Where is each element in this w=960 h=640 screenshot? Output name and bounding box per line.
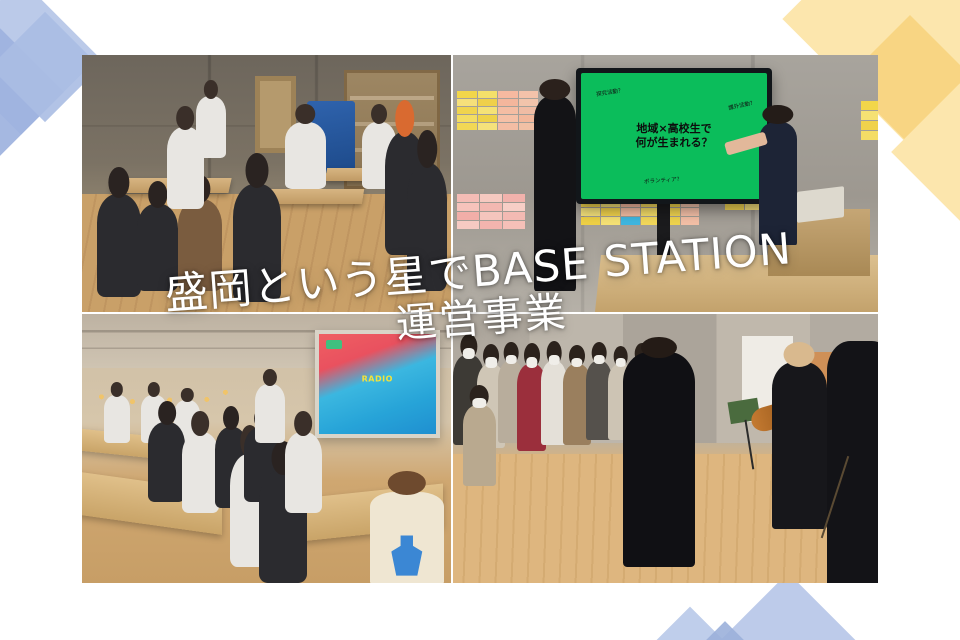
slide-canvas: 探究活動？ 課外活動？ 地域×高校生で 何が生まれる？ ボランティア？ (0, 0, 960, 640)
person (178, 199, 222, 292)
person (285, 432, 322, 513)
tv-stand (657, 204, 670, 261)
violinist (772, 362, 827, 529)
photo-workshop-concrete (82, 55, 451, 312)
sticky-note-wall (861, 101, 878, 204)
person (196, 96, 226, 158)
slide-note-bottom: ボランティア？ (644, 175, 683, 186)
photo-radio-workshop: RADIO (82, 314, 451, 583)
person-foreground-right (827, 341, 878, 583)
person (182, 432, 219, 513)
person-presenter (255, 384, 285, 443)
projection-screen: RADIO (315, 330, 440, 438)
sticky-note-wall (457, 194, 525, 276)
person (148, 422, 185, 503)
slide-title: RADIO (362, 376, 393, 385)
slide-heading-line1: 地域×高校生で (636, 122, 711, 136)
slide-note-top-right: 課外活動？ (728, 98, 757, 112)
person (285, 122, 326, 189)
person (104, 395, 130, 443)
audience-member (463, 405, 496, 486)
green-slide: 探究活動？ 課外活動？ 地域×高校生で 何が生まれる？ ボランティア？ (581, 73, 766, 199)
person (97, 194, 141, 297)
person (137, 204, 178, 291)
photo-chamber-concert (453, 314, 878, 583)
sticky-note-wall (457, 91, 538, 184)
laptop (797, 186, 844, 223)
slide-heading-line2: 何が生まれる？ (636, 136, 713, 150)
photo-student-presentation: 探究活動？ 課外活動？ 地域×高校生で 何が生まれる？ ボランティア？ (453, 55, 878, 312)
person-foreground-tshirt (370, 492, 444, 583)
person (407, 163, 448, 292)
slide-note-top-left: 探究活動？ (596, 86, 624, 98)
projected-slide: RADIO (319, 334, 436, 434)
photo-collage: 探究活動？ 課外活動？ 地域×高校生で 何が生まれる？ ボランティア？ (82, 55, 878, 583)
presentation-display: 探究活動？ 課外活動？ 地域×高校生で 何が生まれる？ ボランティア？ (576, 68, 771, 204)
person-standing-left (534, 96, 576, 291)
tshirt-logo (391, 535, 422, 575)
person (233, 184, 281, 302)
cellist (623, 352, 695, 567)
